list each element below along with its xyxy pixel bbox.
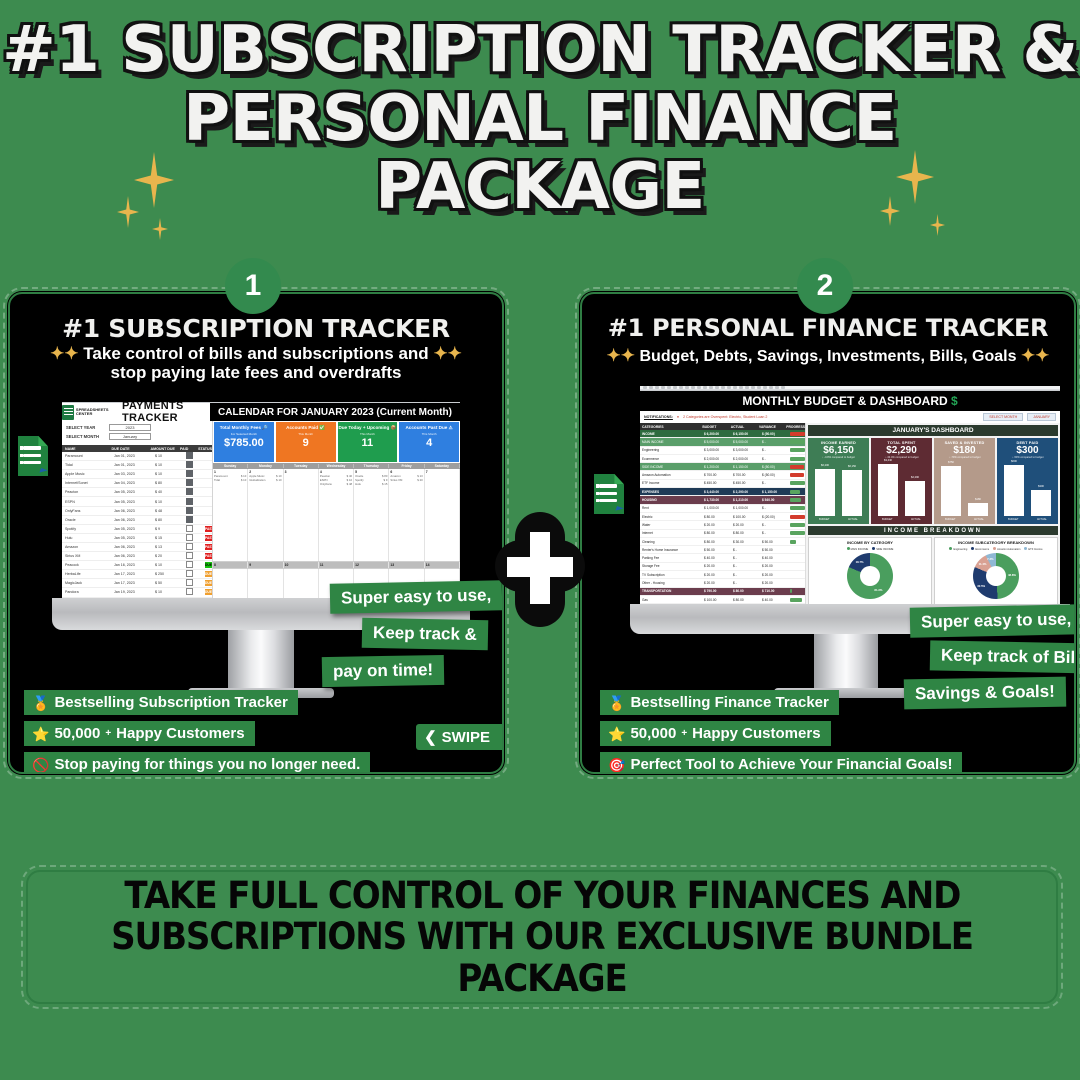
bullet-badge: 🎯 Perfect Tool to Achieve Your Financial… [600, 752, 962, 774]
table-row: Gas$ 100.00$ 80.00$ 40.00 [640, 596, 805, 604]
calendar-day-header: Thursday [354, 464, 389, 468]
paid-checkbox[interactable] [186, 525, 193, 532]
plus-symbol [495, 512, 585, 627]
chevron-left-icon: ❮ [424, 728, 437, 746]
card-title: #1 SUBSCRIPTION TRACKER [10, 314, 502, 343]
calendar-day-header: Monday [248, 464, 283, 468]
dashboard-title: JANUARY'S DASHBOARD [808, 425, 1058, 436]
kpi-card: TOTAL SPENT$2,290↓ -33.4% compared to bu… [871, 438, 932, 524]
table-row: PandoraJan 19, 2023$ 10DUE IN 3 DAYS [62, 588, 212, 597]
table-body: INCOME$ 6,200.00$ 6,150.00$ (50.00)MAIN … [640, 430, 805, 604]
paid-checkbox[interactable] [186, 570, 193, 577]
progress-bar [790, 506, 805, 510]
table-row: AmazonJan 06, 2023$ 13PAST DUE [62, 543, 212, 552]
google-sheets-doc-icon [594, 474, 624, 514]
progress-bar [790, 490, 800, 494]
sparkle-icon: ✦✦ [607, 346, 636, 365]
select-month-label: SELECT MONTH [983, 413, 1023, 421]
calendar-cell[interactable]: 7 [425, 469, 460, 561]
sparkle-icon: ✦✦ [1021, 346, 1050, 365]
status-badge: PAST DUE [205, 526, 212, 532]
paid-checkbox[interactable] [186, 534, 193, 541]
table-row: Engineering$ 3,000.00$ 3,000.00$ - [640, 447, 805, 455]
calendar-grid: 1Paramount$ 10Tidal$ 102Apple Music$ 10G… [213, 469, 460, 598]
kpi-card-row: INCOME EARNED$6,150↓ -0.8% compared to b… [808, 438, 1058, 524]
medal-icon: 🏅 [32, 696, 49, 710]
calendar-cell[interactable]: 10 [284, 562, 319, 568]
paid-checkbox[interactable] [186, 470, 193, 477]
star-icon: ⭐ [608, 727, 625, 741]
calendar-cell[interactable]: 5Oracle$ 80Spotify$ 9Hulu$ 15 [354, 469, 389, 561]
product-card-subscription-tracker[interactable]: #1 SUBSCRIPTION TRACKER ✦✦ Take control … [8, 292, 504, 774]
progress-bar [790, 598, 802, 602]
progress-bar [790, 440, 805, 444]
slice-label: 7.3% [987, 557, 993, 561]
calendar-week-row: 891011121314 [213, 562, 460, 569]
kpi-card: Accounts Past Due ⚠This Month4 [399, 422, 459, 462]
calendar-cell[interactable]: 13 [389, 562, 424, 568]
table-row: TV Subscription$ 20.00$ -$ 20.00 [640, 571, 805, 579]
table-header: CATEGORIES BUDGET ACTUAL VARIANCE PROGRE… [640, 423, 805, 430]
paid-checkbox[interactable] [186, 479, 193, 486]
feature-strip: Savings & Goals! [904, 677, 1066, 710]
filter-selectors[interactable]: SELECT YEAR 2023 SELECT MONTH January [62, 421, 212, 445]
calendar-day-header: Tuesday [284, 464, 319, 468]
kpi-card: SAVED & INVESTED$180↓ -70% compared to b… [934, 438, 995, 524]
progress-bar [790, 448, 805, 452]
dollar-icon: $ [951, 394, 958, 408]
table-row: HerbaLifeJan 17, 2023$ 250DUE IN 1 DAYS [62, 570, 212, 579]
product-card-finance-tracker[interactable]: #1 PERSONAL FINANCE TRACKER ✦✦ Budget, D… [580, 292, 1076, 774]
select-year-row[interactable]: SELECT YEAR 2023 [66, 424, 208, 431]
sparkle-icon [117, 196, 139, 228]
progress-bar [790, 481, 805, 485]
calendar-cell[interactable]: 1Paramount$ 10Tidal$ 10 [213, 469, 248, 561]
table-row: Storage Fee$ 20.00$ -$ 20.00 [640, 563, 805, 571]
donut-chart: 81.3%18.7% [847, 553, 893, 599]
finance-tracker-spreadsheet[interactable]: MONTHLY BUDGET & DASHBOARD $ NOTIFICATIO… [640, 386, 1060, 604]
swipe-button[interactable]: ❮ SWIPE [416, 724, 502, 750]
feature-strip: Super easy to use, [910, 604, 1076, 638]
kpi-card-row: Total Monthly Fees 🔎For Selected Month$7… [213, 421, 460, 463]
table-row: EXPENSES$ 3,440.00$ 2,290.00$ 1,150.00 [640, 488, 805, 496]
bullet-badge: 🏅 Bestselling Subscription Tracker [24, 690, 298, 715]
table-row: SIDE INCOME$ 1,200.00$ 1,150.00$ (50.00) [640, 463, 805, 471]
star-icon: ⭐ [32, 727, 49, 741]
calendar-week-row: 1Paramount$ 10Tidal$ 102Apple Music$ 10G… [213, 469, 460, 562]
bottom-banner: TAKE FULL CONTROL OF YOUR FINANCES AND S… [26, 870, 1058, 1004]
bullet-badge: 🏅 Bestselling Finance Tracker [600, 690, 839, 715]
dashboard-panel: JANUARY'S DASHBOARD INCOME EARNED$6,150↓… [806, 423, 1060, 604]
headline-line-1: #1 SUBSCRIPTION TRACKER & [0, 16, 1080, 85]
calendar-day-header: Friday [389, 464, 424, 468]
progress-bar [790, 457, 805, 461]
calendar-title: CALENDAR FOR JANUARY 2023 (Current Month… [210, 403, 460, 421]
progress-bar [790, 531, 805, 535]
table-row: Other - Housing$ 20.00$ -$ 20.00 [640, 579, 805, 587]
paid-checkbox[interactable] [186, 561, 193, 568]
status-badge: DUE IN 1 DAYS [205, 571, 212, 577]
payments-panel: SELECT YEAR 2023 SELECT MONTH January [62, 421, 213, 598]
paid-checkbox[interactable] [186, 461, 193, 468]
bullet-badge: ⭐ 50,000+ Happy Customers [24, 721, 255, 746]
calendar-day-header: Wednesday [319, 464, 354, 468]
donut-chart-row: INCOME BY CATEGORY MAIN INCOMESIDE INCOM… [808, 537, 1058, 604]
table-row: HuluJan 05, 2023$ 15PAST DUE [62, 534, 212, 543]
payments-table: NAME DUE DATE AMOUNT DUE PAID STATUS Par… [62, 445, 212, 598]
slice-label: 81.3% [874, 588, 882, 592]
progress-bar [790, 589, 792, 593]
table-row: Rent$ 1,000.00$ 1,000.00$ - [640, 505, 805, 513]
table-row: Internet$ 80.00$ 80.00$ - [640, 530, 805, 538]
status-badge: PAST DUE [205, 544, 212, 550]
kpi-card: INCOME EARNED$6,150↓ -0.8% compared to b… [808, 438, 869, 524]
calendar-cell[interactable]: 2Apple Music$ 10Globalization$ 10 [248, 469, 283, 561]
progress-bar [790, 465, 804, 469]
table-row: Water$ 20.00$ 20.00$ - [640, 521, 805, 529]
kpi-card: Accounts Paid ✅This Month9 [276, 422, 336, 462]
table-row: ETF Income$ 450.00$ 450.00$ - [640, 480, 805, 488]
table-row: TRANSPORTATION$ 790.00$ 80.00$ 710.00 [640, 588, 805, 596]
bullet-badge: 🚫 Stop paying for things you no longer n… [24, 752, 370, 774]
chart-legend: MAIN INCOMESIDE INCOME [847, 547, 894, 551]
kpi-icon: ✅ [319, 425, 325, 430]
kpi-icon: ⚠ [449, 425, 453, 430]
kpi-card: Total Monthly Fees 🔎For Selected Month$7… [214, 422, 274, 462]
monitor-screen: SPREADSHEETS CENTER PAYMENTS TRACKER CAL… [62, 402, 460, 598]
table-row: ParamountJan 01, 2023$ 10 [62, 452, 212, 461]
calendar-day-header: Sunday [213, 464, 248, 468]
table-row: OnlyFansJan 06, 2023$ 48 [62, 507, 212, 516]
progress-bar [790, 523, 805, 527]
headline-line-2: PERSONAL FINANCE [0, 85, 1080, 154]
table-row: MAIN INCOME$ 5,000.00$ 5,000.00$ - [640, 438, 805, 446]
kpi-icon: 📦 [391, 425, 397, 430]
paid-checkbox[interactable] [186, 552, 193, 559]
status-badge: PAST DUE [205, 553, 212, 559]
feature-strip: pay on time! [322, 655, 445, 687]
calendar-cell[interactable]: 14 [425, 562, 460, 568]
kpi-icon: 🔎 [262, 425, 268, 430]
card-number-badge-2: 2 [797, 258, 853, 314]
notifications-row: NOTIFICATIONS: ● 2 Categories are Oversp… [640, 411, 1060, 423]
table-row: Sirius XMJan 06, 2023$ 20PAST DUE [62, 552, 212, 561]
paid-checkbox[interactable] [186, 507, 193, 514]
feature-strip: Keep track & [362, 618, 488, 650]
paid-checkbox[interactable] [186, 498, 193, 505]
card-title: #1 PERSONAL FINANCE TRACKER [582, 314, 1074, 342]
sparkle-icon [152, 218, 168, 240]
select-month-row[interactable]: SELECT MONTH January [66, 433, 208, 440]
table-row: Renter's Home Insurance$ 50.00$ -$ 50.00 [640, 546, 805, 554]
status-badge: PAST DUE [205, 535, 212, 541]
card-subtitle: ✦✦ Take control of bills and subscriptio… [24, 344, 488, 382]
paid-checkbox[interactable] [186, 452, 193, 459]
legend-item: MAIN INCOME [847, 547, 869, 551]
calendar-panel: Total Monthly Fees 🔎For Selected Month$7… [213, 421, 460, 598]
slice-label: 18.7% [856, 560, 864, 564]
paid-checkbox[interactable] [186, 488, 193, 495]
chart-legend: EngineeringEcommerceAmazon AutomationETF… [949, 547, 1042, 551]
subscription-tracker-spreadsheet[interactable]: SPREADSHEETS CENTER PAYMENTS TRACKER CAL… [62, 402, 460, 598]
sparkle-icon [880, 196, 900, 226]
feature-strip: Super easy to use, [330, 580, 503, 614]
sparkle-icon [134, 152, 174, 208]
legend-item: SIDE INCOME [872, 547, 893, 551]
table-header: NAME DUE DATE AMOUNT DUE PAID STATUS [62, 445, 212, 452]
medal-icon: 🏅 [608, 696, 625, 710]
kpi-card: DEBT PAID$300↓ -50% compared to budget$6… [997, 438, 1058, 524]
month-dropdown[interactable]: JANUARY [1027, 413, 1056, 421]
table-row: SpotifyJan 05, 2023$ 9PAST DUE [62, 525, 212, 534]
card-subtitle: ✦✦ Budget, Debts, Savings, Investments, … [596, 346, 1060, 366]
promo-graphic: #1 SUBSCRIPTION TRACKER & PERSONAL FINAN… [0, 0, 1080, 1080]
table-row: ESPNJan 05, 2023$ 10 [62, 497, 212, 506]
calendar-cell[interactable]: 6Amazon$ 13Sirius XM$ 20 [389, 469, 424, 561]
status-badge: DUE TODAY [205, 562, 212, 568]
table-row: Electric$ 80.00$ 100.00$ (20.00) [640, 513, 805, 521]
donut-chart: 48.8%32.5%11.4%7.3% [973, 553, 1019, 599]
banner-line-2: SUBSCRIPTIONS WITH OUR EXCLUSIVE BUNDLE … [69, 916, 1015, 999]
monitor-neck [228, 630, 294, 690]
table-row: Internet/SonetJan 04, 2023$ 80 [62, 479, 212, 488]
progress-bar [790, 473, 804, 477]
table-row: PeactonJan 05, 2023$ 40 [62, 488, 212, 497]
table-row: OracleJan 06, 2023$ 80 [62, 516, 212, 525]
paid-checkbox[interactable] [186, 588, 193, 595]
alert-dot-icon: ● [677, 415, 679, 419]
month-dropdown[interactable]: January [109, 433, 151, 440]
legend-item: Engineering [949, 547, 967, 551]
table-row: Cleaning$ 80.00$ 30.00$ 50.00 [640, 538, 805, 546]
income-breakdown-title: INCOME BREAKDOWN [808, 526, 1058, 535]
prohibited-icon: 🚫 [32, 758, 49, 772]
kpi-card: Due Today + Upcoming 📦This Month11 [338, 422, 398, 462]
legend-item: ETF Income [1024, 547, 1042, 551]
sparkle-icon: ✦✦ [50, 344, 79, 363]
categories-table: CATEGORIES BUDGET ACTUAL VARIANCE PROGRE… [640, 423, 806, 604]
dashboard-heading: MONTHLY BUDGET & DASHBOARD $ [640, 391, 1060, 411]
slice-label: 48.8% [1008, 573, 1016, 577]
banner-line-1: TAKE FULL CONTROL OF YOUR FINANCES AND [124, 875, 960, 916]
table-row: Parking Fee$ 40.00$ -$ 40.00 [640, 554, 805, 562]
sparkle-icon [930, 214, 945, 236]
monitor-neck [814, 634, 878, 690]
table-row: HOUSING$ 1,730.00$ 1,210.00$ 540.00 [640, 496, 805, 504]
payments-tracker-title: PAYMENTS TRACKER [122, 403, 210, 421]
sparkle-icon [896, 150, 934, 204]
progress-bar [790, 432, 805, 436]
table-row: Amazon Automation$ 700.00$ 700.00$ (50.0… [640, 471, 805, 479]
table-row: PeacockJan 16, 2023$ 10DUE TODAY [62, 561, 212, 570]
paid-checkbox[interactable] [186, 543, 193, 550]
sheets-icon [62, 405, 74, 420]
table-row: TidalJan 01, 2023$ 10 [62, 461, 212, 470]
paid-checkbox[interactable] [186, 579, 193, 586]
status-badge: DUE IN 1 DAYS [205, 580, 212, 586]
table-row: Ecommerce$ 2,000.00$ 2,000.00$ - [640, 455, 805, 463]
status-badge: DUE IN 3 DAYS [205, 589, 212, 595]
donut-chart-income-subcategory: INCOME SUBCATEGORY BREAKDOWN Engineering… [934, 537, 1058, 604]
progress-bar [790, 498, 801, 502]
paid-checkbox[interactable] [186, 516, 193, 523]
table-row: MagicJackJan 17, 2023$ 50DUE IN 1 DAYS [62, 579, 212, 588]
progress-bar [790, 515, 805, 519]
calendar-day-header: Saturday [425, 464, 460, 468]
card-number-badge-1: 1 [225, 258, 281, 314]
bullet-badge: ⭐ 50,000+ Happy Customers [600, 721, 831, 746]
google-sheets-doc-icon [18, 436, 48, 476]
monitor-screen: MONTHLY BUDGET & DASHBOARD $ NOTIFICATIO… [640, 386, 1060, 604]
year-dropdown[interactable]: 2023 [109, 424, 151, 431]
sparkle-icon: ✦✦ [433, 344, 462, 363]
calendar-cell[interactable]: 9 [248, 562, 283, 568]
dart-icon: 🎯 [608, 758, 625, 772]
calendar-cell[interactable]: 4Peacton$ 40ESPN$ 10OnlyFans$ 48 [319, 469, 354, 561]
donut-chart-income-by-category: INCOME BY CATEGORY MAIN INCOMESIDE INCOM… [808, 537, 932, 604]
slice-label: 11.4% [979, 562, 987, 566]
table-row: Apple MusicJan 03, 2023$ 10 [62, 470, 212, 479]
legend-item: Amazon Automation [993, 547, 1020, 551]
sheet-header: SPREADSHEETS CENTER PAYMENTS TRACKER CAL… [62, 403, 460, 421]
calendar-cell[interactable]: 12 [354, 562, 389, 568]
legend-item: Ecommerce [971, 547, 989, 551]
table-row: INCOME$ 6,200.00$ 6,150.00$ (50.00) [640, 430, 805, 438]
progress-bar [790, 540, 796, 544]
brand-logo: SPREADSHEETS CENTER [62, 403, 122, 421]
calendar-cell[interactable]: 3 [284, 469, 319, 561]
table-body: ParamountJan 01, 2023$ 10TidalJan 01, 20… [62, 452, 212, 598]
calendar-cell[interactable]: 8 [213, 562, 248, 568]
calendar-cell[interactable]: 11 [319, 562, 354, 568]
slice-label: 32.5% [977, 584, 985, 588]
feature-strip: Keep track of Bills, [930, 640, 1076, 673]
